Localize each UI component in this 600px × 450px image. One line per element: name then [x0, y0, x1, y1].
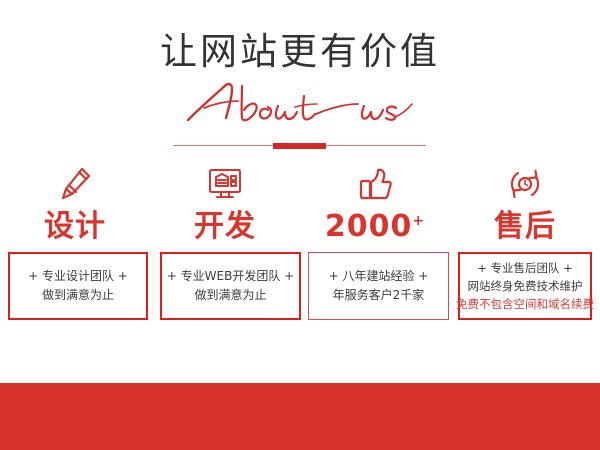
feature-box-development: + 专业WEB开发团队 + 做到满意为止 — [160, 252, 301, 320]
pencil-icon — [0, 160, 150, 208]
feature-box-support: + 专业售后团队 + 网站终身免费技术维护 免费不包含空间和域名续费 — [458, 252, 592, 320]
feature-box-design: + 专业设计团队 + 做到满意为止 — [8, 252, 148, 320]
feature-title-support: 售后 — [450, 208, 600, 245]
feature-column-support: 售后 — [450, 160, 600, 245]
thumbs-up-icon — [300, 160, 450, 208]
script-subtitle: About us — [0, 74, 600, 128]
feature-title-development: 开发 — [150, 208, 300, 245]
feature-column-clients: 2000+ — [300, 160, 450, 245]
feature-box-clients: + 八年建站经验 + 年服务客户2千家 — [308, 252, 449, 320]
feature-box-clients-line-1: + 八年建站经验 + — [329, 267, 429, 286]
feature-box-development-line-2: 做到满意为止 — [194, 286, 266, 305]
feature-box-support-line-2: 网站终身免费技术维护 — [468, 278, 583, 296]
feature-box-support-line-1: + 专业售后团队 + — [477, 260, 573, 278]
divider — [173, 143, 426, 149]
feature-title-clients: 2000+ — [300, 208, 450, 245]
feature-box-design-line-2: 做到满意为止 — [42, 286, 114, 305]
page-title: 让网站更有价值 — [0, 0, 600, 74]
header: 让网站更有价值 — [0, 0, 600, 128]
feature-box-design-line-1: + 专业设计团队 + — [28, 267, 128, 286]
feature-box-support-note: 免费不包含空间和域名续费 — [456, 296, 594, 312]
refresh-circle-icon — [450, 160, 600, 208]
divider-center-bar — [273, 143, 326, 149]
feature-columns: 设计 开发 — [0, 160, 600, 245]
clients-superscript: + — [412, 213, 425, 229]
feature-title-design: 设计 — [0, 208, 150, 245]
about-us-banner: 让网站更有价值 — [0, 0, 600, 450]
feature-column-development: 开发 — [150, 160, 300, 245]
monitor-icon — [150, 160, 300, 208]
feature-box-development-line-1: + 专业WEB开发团队 + — [167, 267, 294, 286]
feature-box-clients-line-2: 年服务客户2千家 — [333, 286, 425, 305]
feature-column-design: 设计 — [0, 160, 150, 245]
bottom-banner — [0, 383, 600, 450]
feature-boxes: + 专业设计团队 + 做到满意为止 + 专业WEB开发团队 + 做到满意为止 +… — [0, 252, 600, 327]
